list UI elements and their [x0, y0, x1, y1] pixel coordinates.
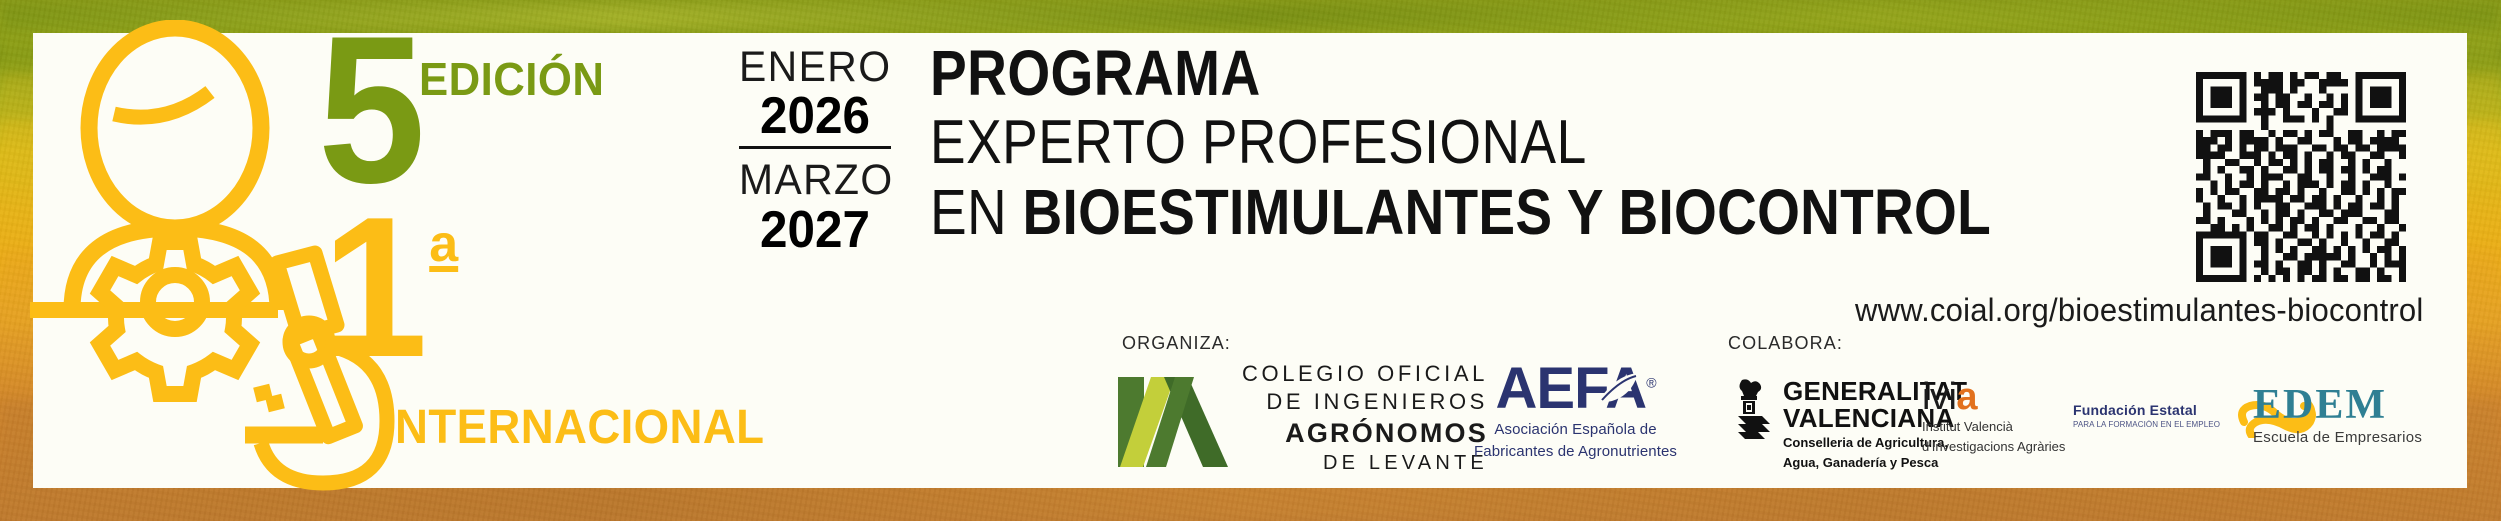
edition-label: EDICIÓN — [419, 52, 604, 106]
coial-line1: COLEGIO OFICIAL — [1242, 360, 1488, 388]
generalitat-crest-icon — [1730, 378, 1774, 442]
aefa-sub1: Asociación Española de — [1474, 421, 1677, 440]
date-divider — [739, 146, 891, 149]
coial-line3: AGRÓNOMOS — [1242, 416, 1488, 451]
title-line-bio: EN BIOESTIMULANTES Y BIOCONTROL — [930, 177, 1991, 249]
title-line-experto: EXPERTO PROFESIONAL — [930, 108, 1991, 177]
edem-name: EDEM — [2253, 384, 2422, 426]
program-title: PROGRAMA EXPERTO PROFESIONAL EN BIOESTIM… — [930, 40, 2164, 249]
start-month: ENERO — [739, 44, 891, 90]
fundacion-line2: PARA LA FORMACIÓN EN EL EMPLEO — [2073, 420, 2220, 429]
ivia-name-accent: a — [1956, 376, 1977, 418]
ivia-name-prefix: ivi — [1922, 376, 1956, 418]
end-year: 2027 — [739, 204, 891, 257]
ivia-sub2: d'Investigacions Agràries — [1922, 439, 2065, 456]
coial-mark-icon — [1118, 369, 1228, 467]
aefa-logo: AEFA® Asociación Española de Fabricantes… — [1474, 360, 1677, 462]
fundacion-line1: Fundación Estatal — [2073, 402, 2220, 418]
ivia-name: ivia — [1922, 378, 2065, 416]
qr-code[interactable] — [2196, 72, 2406, 287]
aefa-leaf-icon — [1594, 369, 1640, 411]
international-number: 1 — [322, 208, 422, 368]
coial-line2: DE INGENIEROS — [1242, 388, 1488, 416]
start-year: 2026 — [739, 90, 891, 143]
website-url[interactable]: www.coial.org/bioestimulantes-biocontrol — [1855, 292, 2423, 329]
title-line-programa: PROGRAMA — [930, 40, 1991, 108]
title-en-prefix: EN — [930, 176, 1007, 248]
edem-sub: Escuela de Empresarios — [2253, 429, 2422, 446]
aefa-name: AEFA® — [1496, 360, 1656, 418]
ivia-sub1: Institut Valencià — [1922, 419, 2065, 436]
international-block: 1 a — [322, 208, 458, 368]
international-ordinal: a — [429, 214, 458, 274]
edition-number: 5 — [318, 28, 416, 192]
edition-block: 5 EDICIÓN — [318, 28, 614, 192]
edem-logo: EDEM Escuela de Empresarios — [2253, 384, 2422, 446]
colabora-label: COLABORA: — [1728, 333, 1843, 354]
end-month: MARZO — [739, 157, 891, 203]
organiza-label: ORGANIZA: — [1122, 333, 1231, 354]
coial-logo: COLEGIO OFICIAL DE INGENIEROS AGRÓNOMOS … — [1118, 360, 1488, 476]
international-label: INTERNACIONAL — [382, 400, 764, 455]
date-range: ENERO 2026 MARZO 2027 — [735, 44, 895, 257]
aefa-sub2: Fabricantes de Agronutrientes — [1474, 443, 1677, 462]
coial-line4: DE LEVANTE — [1242, 451, 1488, 477]
title-bio-main: BIOESTIMULANTES Y BIOCONTROL — [1023, 176, 1991, 248]
event-banner: 5 EDICIÓN 1 a INTERNACIONAL ENERO 2026 M… — [0, 0, 2501, 521]
generalitat-sub2: Agua, Ganadería y Pesca — [1783, 455, 1967, 471]
aefa-registered: ® — [1646, 375, 1655, 391]
ivia-logo: ivia Institut Valencià d'Investigacions … — [1922, 378, 2065, 456]
